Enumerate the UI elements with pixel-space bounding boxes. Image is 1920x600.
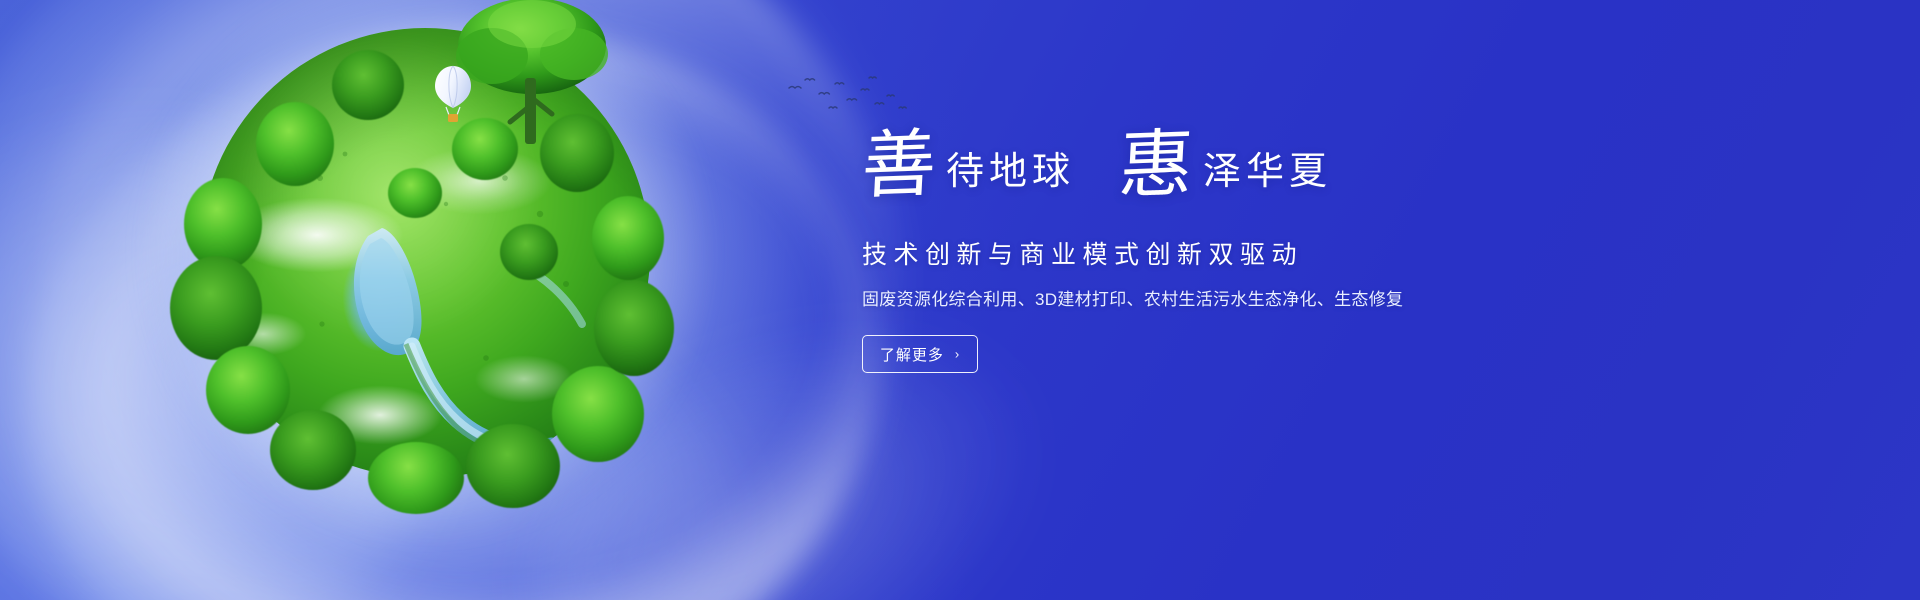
hero-description: 固废资源化综合利用、3D建材打印、农村生活污水生态净化、生态修复: [862, 289, 1562, 311]
tree-cluster: [206, 346, 290, 434]
planet-illustration: [200, 28, 650, 478]
headline-brush-char-2: 惠: [1117, 127, 1195, 204]
tree-cluster: [500, 224, 558, 280]
tree-cluster: [388, 168, 442, 218]
chevron-right-icon: ›: [955, 347, 960, 360]
hero-headline: 善 待地球 惠 泽华夏: [862, 128, 1562, 214]
headline-rest-1: 待地球: [946, 152, 1075, 190]
tree-cluster: [332, 50, 404, 120]
tree-cluster: [256, 102, 334, 186]
hero-content: 善 待地球 惠 泽华夏 技术创新与商业模式创新双驱动 固废资源化综合利用、3D建…: [862, 128, 1562, 373]
tree-cluster: [552, 366, 644, 462]
learn-more-label: 了解更多: [880, 344, 944, 365]
hero-subtitle: 技术创新与商业模式创新双驱动: [862, 240, 1562, 270]
tree-cluster: [594, 280, 674, 376]
headline-brush-char-1: 善: [860, 127, 938, 204]
tree-cluster: [466, 424, 560, 508]
tree-cluster: [170, 256, 262, 360]
bird-flock-icon: [785, 72, 915, 120]
hero-banner: 善 待地球 惠 泽华夏 技术创新与商业模式创新双驱动 固废资源化综合利用、3D建…: [0, 0, 1920, 600]
tree-cluster: [368, 442, 464, 514]
learn-more-button[interactable]: 了解更多 ›: [862, 335, 978, 373]
headline-rest-2: 泽华夏: [1203, 152, 1332, 190]
tree-cluster: [270, 410, 356, 490]
hot-air-balloon-icon: [432, 64, 474, 126]
tree-cluster: [592, 196, 664, 280]
